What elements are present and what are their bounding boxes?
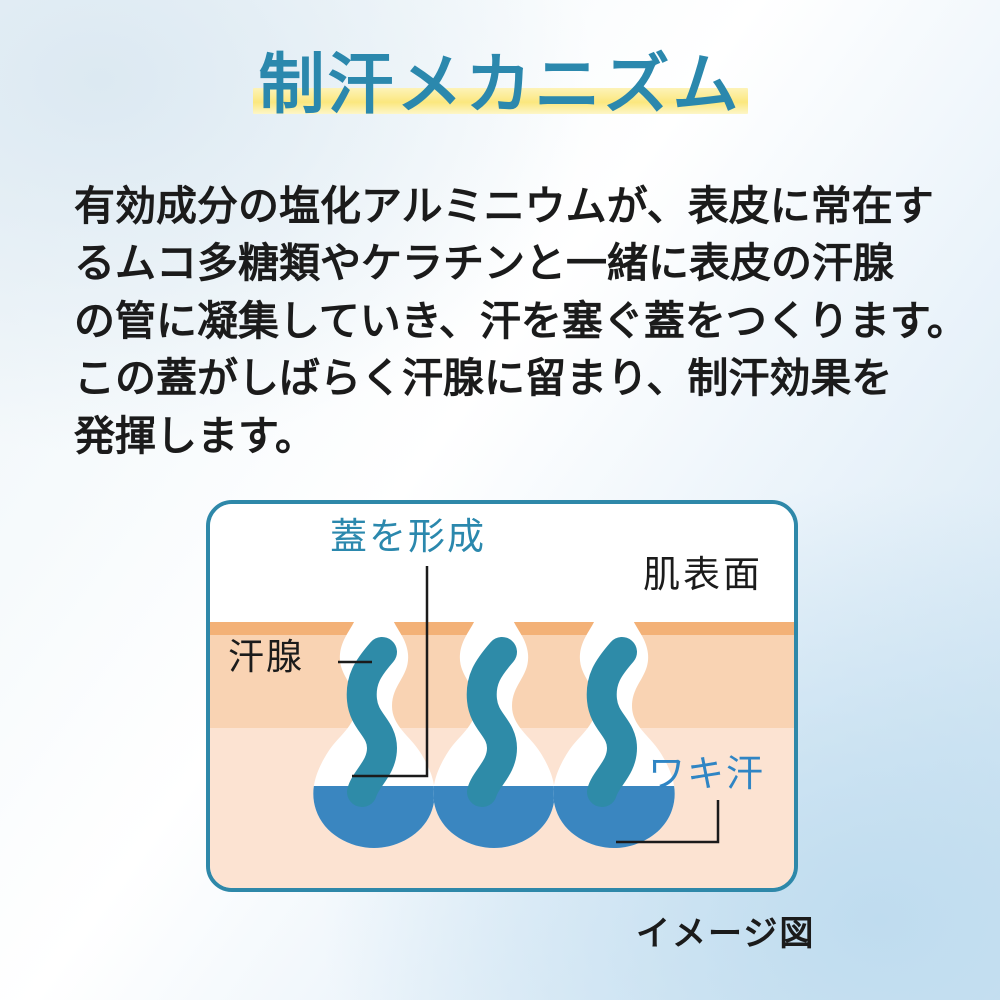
page-title: 制汗メカニズム: [259, 46, 742, 123]
body-line-5: 発揮します。: [74, 408, 942, 465]
body-line-1: 有効成分の塩化アルミニウムが、表皮に常在す: [74, 178, 942, 235]
plug-center: [482, 652, 502, 792]
title-inner: 制汗メカニズム: [259, 52, 742, 118]
label-sweat-gland: 汗腺: [228, 640, 304, 676]
infographic-page: 制汗メカニズム 有効成分の塩化アルミニウムが、表皮に常在す るムコ多糖類やケラチ…: [0, 0, 1000, 1000]
title-block: 制汗メカニズム: [0, 52, 1000, 118]
plug-left: [362, 652, 382, 792]
diagram-caption: イメージ図: [636, 906, 815, 955]
body-line-3: の管に凝集していき、汗を塞ぐ蓋をつくります。: [74, 293, 942, 350]
body-line-4: この蓋がしばらく汗腺に留まり、制汗効果を: [74, 350, 942, 407]
gland-left: [300, 588, 450, 858]
gland-right: [540, 588, 690, 858]
label-armpit-sweat: ワキ汗: [648, 755, 765, 792]
label-plug-formation: 蓋を形成: [330, 518, 486, 555]
body-paragraph: 有効成分の塩化アルミニウムが、表皮に常在す るムコ多糖類やケラチンと一緒に表皮の…: [74, 178, 942, 465]
label-skin-surface: 肌表面: [643, 556, 763, 593]
body-line-2: るムコ多糖類やケラチンと一緒に表皮の汗腺: [74, 235, 942, 292]
plug-right: [602, 652, 622, 792]
gland-center: [420, 588, 570, 858]
